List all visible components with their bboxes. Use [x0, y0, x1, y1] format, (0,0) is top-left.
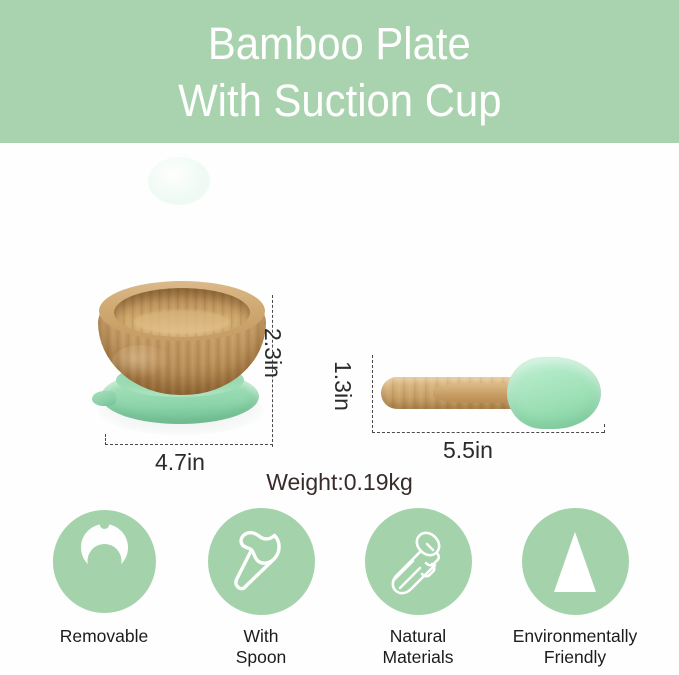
- feature-icon-badge-with-spoon: [208, 508, 315, 615]
- spoon-width-label: 5.5in: [443, 437, 493, 464]
- spoon-head-scoop: [148, 157, 210, 205]
- spoon-outline-icon: [222, 523, 300, 601]
- bowl-highlight: [112, 345, 170, 379]
- page-title-line-2: With Suction Cup: [178, 72, 501, 129]
- page-title-line-1: Bamboo Plate: [208, 15, 471, 72]
- feature-item-environmentally-friendly: Environmentally Friendly: [505, 500, 645, 675]
- feature-label-with-spoon: With Spoon: [236, 626, 287, 668]
- product-stage: 2.3in 4.7in 1.3in 5.5in Weight:0.19kg: [0, 143, 679, 500]
- feature-icon-badge-natural-materials: [365, 508, 472, 615]
- header-banner: Bamboo Plate With Suction Cup: [0, 0, 679, 143]
- feature-strip: Removable With Spoon: [0, 500, 679, 675]
- bamboo-log-icon: [379, 523, 457, 601]
- spoon-width-right-tick: [604, 424, 605, 433]
- weight-label: Weight:0.19kg: [0, 469, 679, 496]
- bamboo-spoon-image: [381, 355, 601, 435]
- spoon-head: [507, 357, 601, 429]
- bowl-width-left-tick: [105, 434, 106, 445]
- feature-label-environmentally-friendly: Environmentally Friendly: [513, 626, 638, 668]
- spoon-height-label: 1.3in: [329, 361, 356, 411]
- feature-label-natural-materials: Natural Materials: [383, 626, 454, 668]
- bowl-width-dimension-line: [105, 444, 273, 445]
- spoon-height-dimension-line: [372, 355, 373, 433]
- feature-item-with-spoon: With Spoon: [191, 500, 331, 675]
- feature-icon-badge-removable: [51, 508, 158, 615]
- suction-cup-icon: [51, 508, 158, 615]
- feature-label-removable: Removable: [60, 626, 149, 647]
- feature-icon-badge-environmentally-friendly: [522, 508, 629, 615]
- bowl-height-label: 2.3in: [259, 328, 286, 378]
- bamboo-bowl-image: [90, 283, 285, 448]
- feature-item-removable: Removable: [34, 500, 174, 675]
- bowl-cavity-floor: [134, 310, 230, 334]
- spoon-width-dimension-line: [372, 432, 604, 433]
- feature-item-natural-materials: Natural Materials: [348, 500, 488, 675]
- tree-triangle-icon: [536, 523, 614, 601]
- suction-cup-tab: [92, 391, 116, 406]
